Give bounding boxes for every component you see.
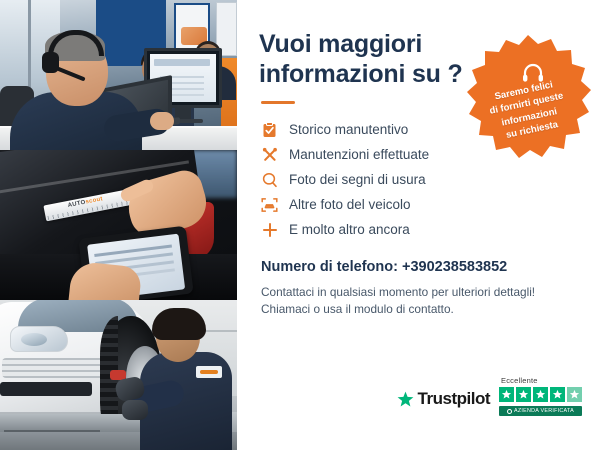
title-divider bbox=[261, 101, 295, 104]
promo-banner: AUTOscout Vuoi maggiori informazi bbox=[0, 0, 600, 450]
phone-label: Numero di telefono: bbox=[261, 259, 398, 275]
rating-star bbox=[516, 387, 531, 402]
list-item-label: Foto dei segni di usura bbox=[289, 172, 426, 187]
car-scan-frame-icon bbox=[261, 196, 278, 213]
rating-star bbox=[550, 387, 565, 402]
list-item: E molto altro ancora bbox=[261, 217, 576, 242]
search-circle-icon bbox=[261, 171, 278, 188]
list-item: Foto dei segni di usura bbox=[261, 167, 576, 192]
mechanic-wheel-inspection-photo bbox=[0, 300, 237, 450]
trustpilot-widget[interactable]: Trustpilot Eccellente bbox=[397, 376, 582, 416]
page-title: Vuoi maggiori informazioni su ? bbox=[259, 30, 469, 89]
list-item-label: Storico manutentivo bbox=[289, 122, 408, 137]
vehicle-inspection-ruler-tablet-photo: AUTOscout bbox=[0, 150, 237, 300]
contact-line-2: Chiamaci o usa il modulo di contatto. bbox=[261, 301, 576, 318]
verified-check-icon bbox=[507, 409, 512, 414]
trustpilot-rating-block: Eccellente bbox=[499, 376, 582, 416]
phone-number[interactable]: +390238583852 bbox=[402, 259, 507, 275]
verified-label: AZIENDA VERIFICATA bbox=[514, 408, 574, 414]
list-item: Altre foto del veicolo bbox=[261, 192, 576, 217]
trustpilot-logo: Trustpilot bbox=[397, 389, 490, 416]
photo-column: AUTOscout bbox=[0, 0, 237, 450]
content-panel: Vuoi maggiori informazioni su ? Storico … bbox=[237, 0, 600, 450]
list-item-label: Altre foto del veicolo bbox=[289, 197, 411, 212]
contact-line-1: Contattaci in qualsiasi momento per ulte… bbox=[261, 284, 576, 301]
trustpilot-stars bbox=[499, 387, 582, 402]
callout-badge: Saremo felici di fornirti queste informa… bbox=[464, 32, 592, 160]
list-item-label: E molto altro ancora bbox=[289, 222, 410, 237]
call-center-operators-photo bbox=[0, 0, 237, 150]
clipboard-check-icon bbox=[261, 121, 278, 138]
list-item-label: Manutenzioni effettuate bbox=[289, 147, 429, 162]
rating-star bbox=[499, 387, 514, 402]
verified-business-badge: AZIENDA VERIFICATA bbox=[499, 406, 582, 416]
contact-instructions: Contattaci in qualsiasi momento per ulte… bbox=[261, 284, 576, 318]
tools-cross-icon bbox=[261, 146, 278, 163]
rating-star-half bbox=[567, 387, 582, 402]
rating-star bbox=[533, 387, 548, 402]
plus-icon bbox=[261, 221, 278, 238]
trustpilot-name: Trustpilot bbox=[418, 389, 490, 409]
trustpilot-rating-caption: Eccellente bbox=[499, 376, 538, 385]
trustpilot-star-icon bbox=[397, 391, 414, 408]
phone-number-line: Numero di telefono: +390238583852 bbox=[261, 259, 576, 275]
